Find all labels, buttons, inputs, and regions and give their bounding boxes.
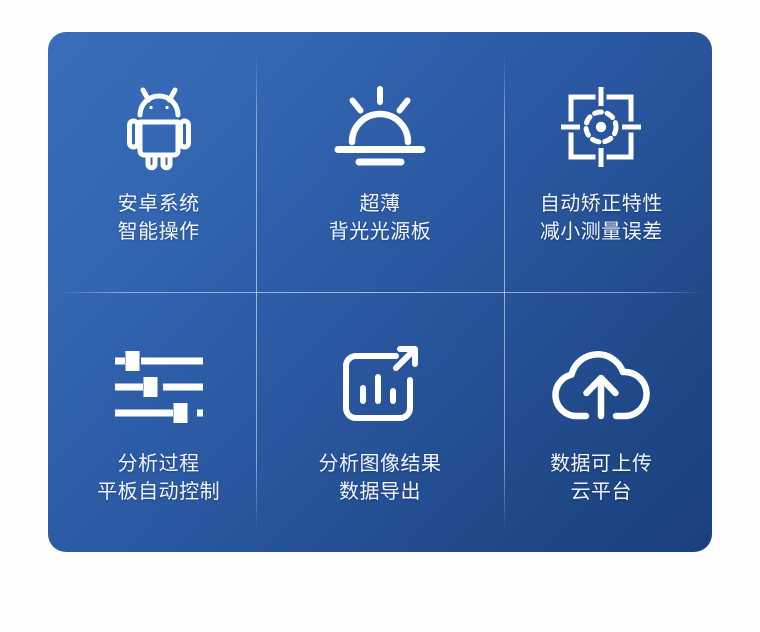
- feature-label-line2: 智能操作: [118, 217, 200, 245]
- feature-cell-backlight-panel[interactable]: 超薄 背光光源板: [269, 32, 490, 292]
- feature-label-line1: 分析图像结果: [318, 451, 441, 475]
- feature-cell-image-analysis-export[interactable]: 分析图像结果 数据导出: [269, 292, 490, 552]
- feature-label-line1: 超薄: [359, 191, 400, 215]
- feature-cell-android-system[interactable]: 安卓系统 智能操作: [48, 32, 269, 292]
- feature-label-line2: 背光光源板: [329, 217, 432, 245]
- focus-crosshair-icon: [555, 79, 647, 175]
- feature-label-line2: 云平台: [550, 477, 653, 505]
- feature-cell-auto-correction[interactable]: 自动矫正特性 减小测量误差: [491, 32, 712, 292]
- feature-label: 数据可上传 云平台: [550, 449, 653, 506]
- feature-label-line2: 减小测量误差: [540, 217, 663, 245]
- feature-grid: 安卓系统 智能操作: [48, 32, 712, 552]
- feature-label-line2: 平板自动控制: [97, 477, 220, 505]
- cloud-upload-icon: [546, 339, 656, 435]
- chart-export-icon: [334, 339, 426, 435]
- sliders-control-icon: [111, 339, 207, 435]
- feature-label-line1: 数据可上传: [550, 451, 653, 475]
- sunrise-backlight-icon: [328, 79, 432, 175]
- page-root: 安卓系统 智能操作: [0, 0, 760, 632]
- feature-label: 安卓系统 智能操作: [118, 189, 200, 246]
- feature-cell-cloud-upload[interactable]: 数据可上传 云平台: [491, 292, 712, 552]
- feature-label: 超薄 背光光源板: [329, 189, 432, 246]
- feature-label: 分析图像结果 数据导出: [318, 449, 441, 506]
- feature-label-line1: 分析过程: [118, 451, 200, 475]
- feature-label: 自动矫正特性 减小测量误差: [540, 189, 663, 246]
- feature-label: 分析过程 平板自动控制: [97, 449, 220, 506]
- feature-card: 安卓系统 智能操作: [48, 32, 712, 552]
- feature-label-line2: 数据导出: [318, 477, 441, 505]
- android-robot-icon: [116, 79, 202, 175]
- feature-cell-analysis-control[interactable]: 分析过程 平板自动控制: [48, 292, 269, 552]
- feature-label-line1: 自动矫正特性: [540, 191, 663, 215]
- feature-label-line1: 安卓系统: [118, 191, 200, 215]
